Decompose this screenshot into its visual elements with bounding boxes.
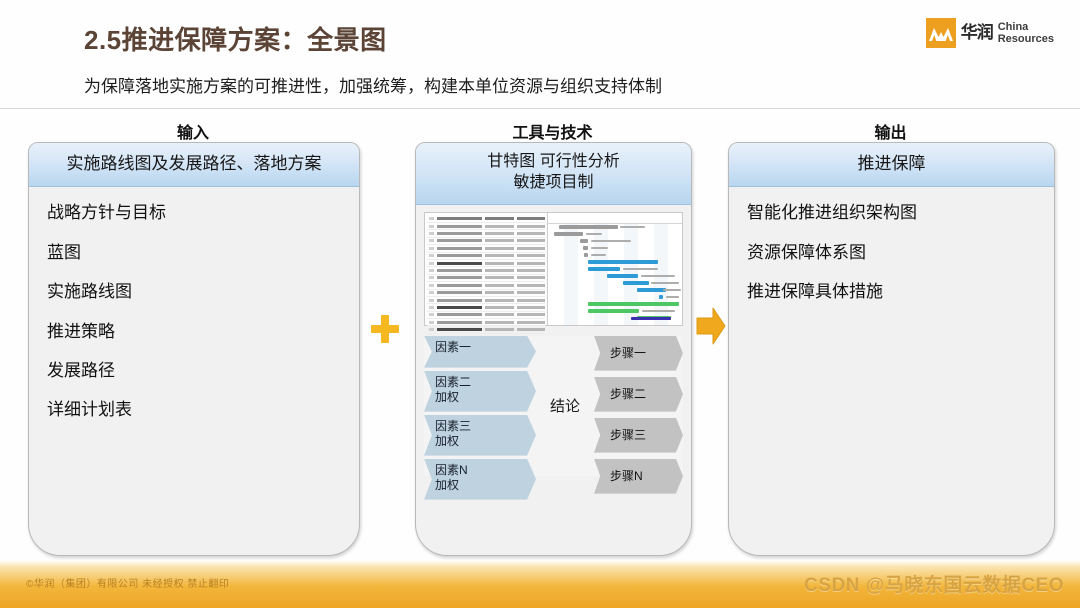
arrow-right-icon: [696, 305, 726, 347]
logo-chinese-text: 华润: [961, 25, 993, 42]
plus-connector-icon: [371, 315, 399, 343]
logo-english-text: China Resources: [998, 21, 1054, 46]
steps-column: 步骤一 步骤二 步骤三 步骤N: [594, 336, 683, 476]
factor-weight-label: 加权: [435, 434, 530, 449]
list-item: 详细计划表: [47, 400, 341, 420]
list-item: 战略方针与目标: [47, 203, 341, 223]
copyright-text: ©华润（集团）有限公司 未经授权 禁止翻印: [26, 575, 229, 590]
logo-english-line2: Resources: [998, 33, 1054, 45]
factor-label: 因素一: [435, 340, 471, 354]
gantt-task-table: [425, 213, 548, 325]
factor-weight-label: 加权: [435, 390, 530, 405]
factor-label: 因素N: [435, 463, 530, 478]
gantt-chart-thumbnail: [424, 212, 683, 326]
footer-band: ©华润（集团）有限公司 未经授权 禁止翻印 CSDN @马晓东国云数据CEO: [0, 560, 1080, 608]
page-title: 2.5推进保障方案：全景图: [84, 20, 387, 57]
factor-item: 因素二 加权: [424, 371, 536, 412]
list-item: 资源保障体系图: [747, 243, 1036, 263]
step-item: 步骤N: [594, 459, 683, 494]
factor-item: 因素N 加权: [424, 459, 536, 500]
tools-card: 甘特图 可行性分析 敏捷项目制: [415, 142, 692, 556]
factor-label: 因素三: [435, 419, 530, 434]
page-subtitle: 为保障落地实施方案的可推进性，加强统筹，构建本单位资源与组织支持体制: [84, 72, 662, 97]
output-card-body: 智能化推进组织架构图 资源保障体系图 推进保障具体措施: [729, 187, 1054, 302]
list-item: 推进保障具体措施: [747, 282, 1036, 302]
step-item: 步骤三: [594, 418, 683, 453]
tools-card-title-line1: 甘特图 可行性分析: [424, 152, 683, 173]
header-divider: [0, 108, 1080, 109]
list-item: 智能化推进组织架构图: [747, 203, 1036, 223]
column-heading-input: 输入: [28, 119, 358, 143]
factor-item: 因素三 加权: [424, 415, 536, 456]
input-card-title: 实施路线图及发展路径、落地方案: [29, 143, 359, 187]
column-heading-tools: 工具与技术: [415, 119, 690, 143]
output-card: 推进保障 智能化推进组织架构图 资源保障体系图 推进保障具体措施: [728, 142, 1055, 556]
list-item: 推进策略: [47, 322, 341, 342]
conclusion-column: 结论: [536, 336, 594, 476]
factor-item: 因素一: [424, 336, 536, 368]
tools-card-body: 因素一 因素二 加权 因素三 加权 因素N 加权: [416, 212, 691, 476]
brand-logo: 华润 China Resources: [926, 18, 1054, 48]
list-item: 发展路径: [47, 361, 341, 381]
input-card: 实施路线图及发展路径、落地方案 战略方针与目标 蓝图 实施路线图 推进策略 发展…: [28, 142, 360, 556]
gantt-bars-area: [548, 213, 682, 325]
factors-steps-diagram: 因素一 因素二 加权 因素三 加权 因素N 加权: [424, 336, 683, 476]
step-item: 步骤二: [594, 377, 683, 412]
input-card-body: 战略方针与目标 蓝图 实施路线图 推进策略 发展路径 详细计划表: [29, 187, 359, 420]
step-item: 步骤一: [594, 336, 683, 371]
china-resources-mark-icon: [926, 18, 956, 48]
output-card-title: 推进保障: [729, 143, 1054, 187]
tools-card-title: 甘特图 可行性分析 敏捷项目制: [416, 143, 691, 205]
logo-english-line1: China: [998, 21, 1054, 33]
list-item: 实施路线图: [47, 282, 341, 302]
conclusion-label: 结论: [550, 395, 580, 416]
watermark-text: CSDN @马晓东国云数据CEO: [804, 570, 1064, 597]
factor-label: 因素二: [435, 375, 530, 390]
factors-column: 因素一 因素二 加权 因素三 加权 因素N 加权: [424, 336, 536, 476]
tools-card-title-line2: 敏捷项目制: [424, 173, 683, 194]
column-heading-output: 输出: [728, 119, 1053, 143]
slide: 华润 China Resources 2.5推进保障方案：全景图 为保障落地实施…: [0, 0, 1080, 608]
factor-weight-label: 加权: [435, 478, 530, 493]
list-item: 蓝图: [47, 243, 341, 263]
